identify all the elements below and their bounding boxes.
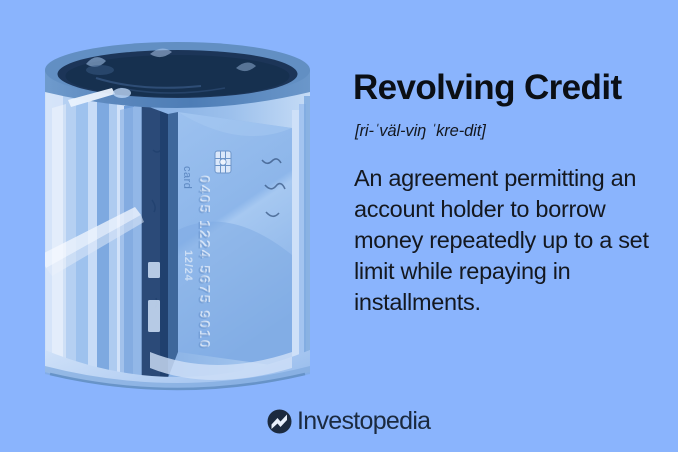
definition-text: An agreement permitting an account holde… xyxy=(354,163,666,318)
page-title: Revolving Credit xyxy=(353,68,673,108)
card-chip-icon xyxy=(215,151,231,173)
svg-text:0405 1224 5675 9010: 0405 1224 5675 9010 xyxy=(195,176,212,350)
card-number: 0405 1224 5675 9010 0405 1224 5675 9010 xyxy=(195,175,214,350)
definition-card: 0405 1224 5675 9010 0405 1224 5675 9010 … xyxy=(0,0,678,452)
investopedia-logo-icon xyxy=(267,409,292,434)
cylinder-body: 0405 1224 5675 9010 0405 1224 5675 9010 … xyxy=(40,88,311,388)
illustration-svg: 0405 1224 5675 9010 0405 1224 5675 9010 … xyxy=(0,0,340,452)
investopedia-logo[interactable]: Investopedia xyxy=(267,409,430,434)
investopedia-wordmark: Investopedia xyxy=(297,409,430,434)
revolving-door-credit-cards-illustration: 0405 1224 5675 9010 0405 1224 5675 9010 … xyxy=(0,0,340,452)
card-expiry: 12/24 xyxy=(182,250,194,282)
card-label: card xyxy=(181,166,193,189)
svg-text:card: card xyxy=(181,166,193,189)
svg-text:12/24: 12/24 xyxy=(182,250,194,282)
term-text-block: Revolving Credit [ri-ˈväl-viŋ ˈkre-dit] … xyxy=(353,68,673,318)
pronunciation: [ri-ˈväl-viŋ ˈkre-dit] xyxy=(355,121,673,141)
